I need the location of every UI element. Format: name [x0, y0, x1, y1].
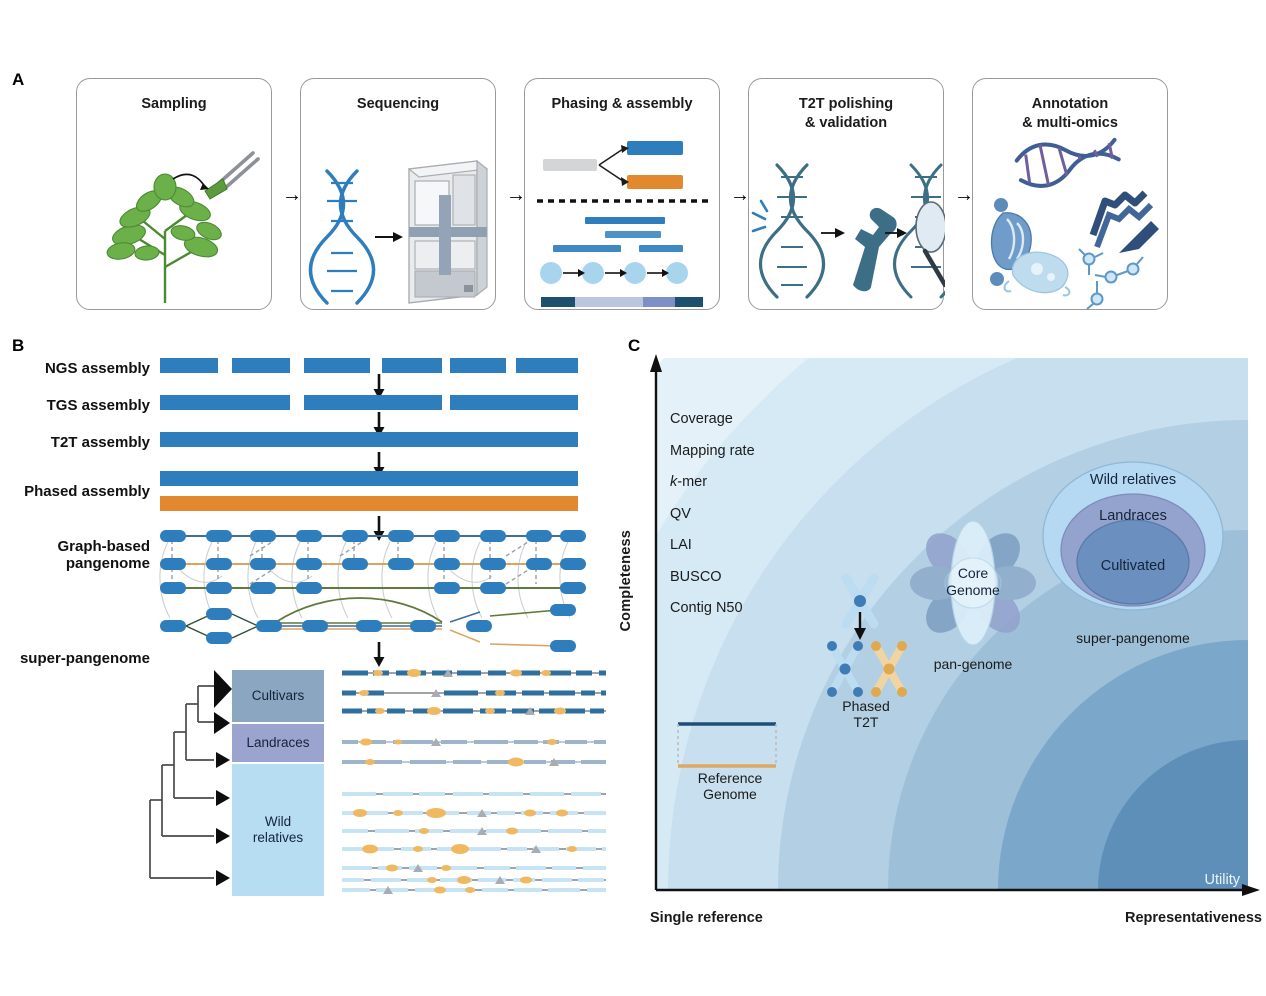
stage-box-sequencing[interactable]: Sequencing	[300, 78, 496, 310]
panel-c: Completeness Single reference Representa…	[620, 330, 1266, 930]
row-label-graph-pangenome: Graph-based pangenome	[10, 538, 150, 573]
stage-title-polishing: T2T polishing & validation	[749, 95, 943, 133]
down-arrow-graph-to-super	[372, 642, 386, 668]
row-label-tgs-assembly: TGS assembly	[10, 397, 150, 414]
nested-label-cultivated: Cultivated	[1101, 558, 1165, 574]
t2t-assembly-bar	[160, 432, 578, 447]
group-box-landraces[interactable]: Landraces	[232, 724, 324, 762]
group-label-wild-relatives: Wild relatives	[253, 814, 303, 845]
group-label-cultivars: Cultivars	[252, 688, 305, 704]
metric-kmer-suffix: -mer	[677, 474, 707, 490]
metric-contig-n50: Contig N50	[670, 601, 755, 616]
dna-wrench-magnifier-icon	[749, 135, 943, 299]
metric-busco: BUSCO	[670, 570, 755, 585]
metric-lai: LAI	[670, 538, 755, 553]
nested-label-wild-relatives: Wild relatives	[1090, 472, 1176, 488]
figure-root: A Sampling	[0, 0, 1266, 996]
stage-title-annotation-line2: & multi-omics	[1022, 115, 1118, 131]
row-label-super-pangenome: super-pangenome	[10, 650, 150, 667]
metric-kmer: k-mer	[670, 475, 755, 490]
stage-box-polishing[interactable]: T2T polishing & validation	[748, 78, 944, 310]
super-pangenome-nested-circles: Wild relatives Landraces Cultivated	[1038, 458, 1228, 628]
reference-genome-glyph	[672, 718, 782, 774]
x-axis-label-single-reference: Single reference	[650, 910, 763, 926]
dna-sequencer-machine-icon	[301, 135, 495, 299]
caption-phased-t2t: Phased T2T	[806, 698, 926, 730]
phylogenetic-tree	[140, 668, 234, 903]
stage-title-polishing-line2: & validation	[805, 115, 887, 131]
flow-arrow-2: →	[506, 185, 526, 205]
nested-label-landraces: Landraces	[1099, 508, 1167, 524]
plant-leaf-sampling-icon	[77, 135, 271, 299]
graph-pangenome-diagram	[150, 526, 590, 661]
x-axis-label-representativeness: Representativeness	[1125, 910, 1262, 926]
stage-title-sequencing: Sequencing	[301, 95, 495, 114]
venn-core-line2: Genome	[946, 582, 1000, 598]
venn-core-line1: Core	[958, 565, 989, 581]
stage-box-sampling[interactable]: Sampling	[76, 78, 272, 310]
flow-arrow-4: →	[954, 185, 974, 205]
caption-super-pangenome: super-pangenome	[1028, 630, 1238, 646]
panel-b: NGS assembly TGS assembly T2T assembly	[0, 330, 630, 930]
group-box-wild-relatives[interactable]: Wild relatives	[232, 764, 324, 896]
haplotype-tracks	[340, 666, 610, 901]
caption-pan-genome: pan-genome	[908, 656, 1038, 672]
stage-box-annotation[interactable]: Annotation & multi-omics	[972, 78, 1168, 310]
metric-coverage: Coverage	[670, 412, 755, 427]
phased-assembly-hap2-bar	[160, 496, 578, 511]
stage-title-polishing-line1: T2T polishing	[799, 96, 893, 112]
caption-phased-line1: Phased	[842, 698, 889, 714]
flow-arrow-1: →	[282, 185, 302, 205]
y-axis-label-completeness: Completeness	[618, 530, 634, 632]
row-label-t2t-assembly: T2T assembly	[10, 434, 150, 451]
metric-mapping-rate: Mapping rate	[670, 444, 755, 459]
stage-title-annotation-line1: Annotation	[1032, 96, 1109, 112]
utility-label: Utility	[1205, 872, 1240, 888]
caption-phased-line2: T2T	[854, 714, 879, 730]
flow-arrow-3: →	[730, 185, 750, 205]
haplotype-phasing-contigs-icon	[525, 135, 719, 299]
stage-box-phasing[interactable]: Phasing & assembly	[524, 78, 720, 310]
stage-title-phasing: Phasing & assembly	[525, 95, 719, 114]
stage-title-annotation: Annotation & multi-omics	[973, 95, 1167, 133]
stage-title-sampling: Sampling	[77, 95, 271, 114]
caption-reference-genome: Reference Genome	[660, 770, 800, 802]
group-label-wild-line1: Wild	[265, 814, 291, 829]
dna-protein-metabolite-icon	[973, 135, 1167, 299]
row-label-graph-line1: Graph-based	[57, 538, 150, 555]
metric-qv: QV	[670, 507, 755, 522]
group-label-wild-line2: relatives	[253, 830, 303, 845]
caption-reference-line1: Reference	[698, 770, 763, 786]
row-label-graph-line2: pangenome	[66, 555, 150, 572]
group-label-landraces: Landraces	[246, 735, 309, 751]
panel-a: Sampling	[0, 60, 1266, 330]
completeness-metrics-list: Coverage Mapping rate k-mer QV LAI BUSCO…	[670, 412, 755, 633]
group-box-cultivars[interactable]: Cultivars	[232, 670, 324, 722]
row-label-ngs-assembly: NGS assembly	[10, 360, 150, 377]
phased-assembly-hap1-bar	[160, 471, 578, 486]
row-label-phased-assembly: Phased assembly	[10, 483, 150, 500]
caption-reference-line2: Genome	[703, 786, 757, 802]
pan-genome-flower-venn: Core Genome	[908, 508, 1038, 658]
